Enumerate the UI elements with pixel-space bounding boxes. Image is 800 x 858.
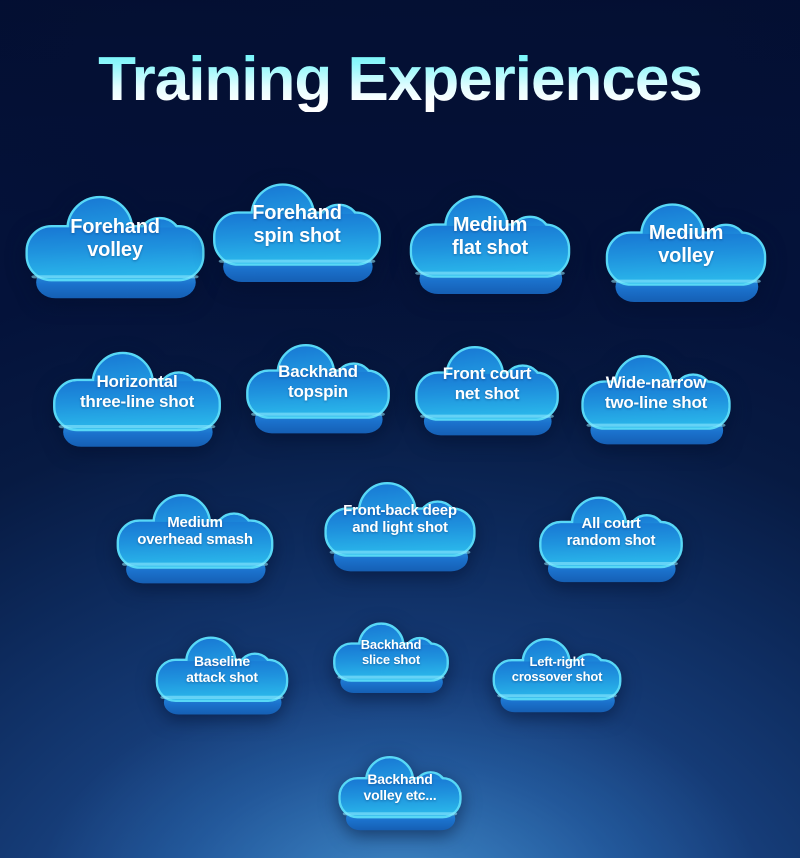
cloud-card[interactable]: Forehandvolley bbox=[20, 183, 210, 291]
cloud-card[interactable]: Backhandvolley etc... bbox=[335, 747, 465, 825]
cloud-card[interactable]: Front courtnet shot bbox=[411, 335, 563, 429]
cloud-card[interactable]: Mediumvolley bbox=[601, 191, 771, 295]
cloud-shape-icon bbox=[411, 335, 563, 429]
cloud-shape-icon bbox=[489, 629, 625, 707]
cloud-shape-icon bbox=[535, 486, 687, 576]
cloud-shape-icon bbox=[112, 483, 278, 577]
cloud-card[interactable]: Front-back deepand light shot bbox=[320, 471, 480, 565]
cloud-card[interactable]: Baselineattack shot bbox=[152, 627, 292, 709]
cloud-shape-icon bbox=[330, 614, 452, 688]
cloud-shape-icon bbox=[601, 191, 771, 295]
cloud-shape-icon bbox=[242, 333, 394, 427]
cloud-card[interactable]: Backhandslice shot bbox=[330, 614, 452, 688]
cloud-card[interactable]: Mediumflat shot bbox=[405, 183, 575, 287]
cloud-card[interactable]: Wide-narrowtwo-line shot bbox=[577, 344, 735, 438]
cloud-shape-icon bbox=[320, 471, 480, 565]
cloud-card[interactable]: Forehandspin shot bbox=[208, 171, 386, 275]
cloud-shape-icon bbox=[335, 747, 465, 825]
cloud-card[interactable]: All courtrandom shot bbox=[535, 486, 687, 576]
cloud-card[interactable]: Left-rightcrossover shot bbox=[489, 629, 625, 707]
cloud-shape-icon bbox=[208, 171, 386, 275]
cloud-shape-icon bbox=[152, 627, 292, 709]
cloud-shape-icon bbox=[20, 183, 210, 291]
cloud-shape-icon bbox=[577, 344, 735, 438]
cloud-card[interactable]: Backhandtopspin bbox=[242, 333, 394, 427]
cloud-card[interactable]: Horizontalthree-line shot bbox=[48, 340, 226, 440]
page-title: Training Experiences bbox=[0, 47, 800, 112]
infographic-canvas: Training Experiences ForehandvolleyForeh… bbox=[0, 0, 800, 858]
cloud-shape-icon bbox=[405, 183, 575, 287]
cloud-shape-icon bbox=[48, 340, 226, 440]
cloud-card[interactable]: Mediumoverhead smash bbox=[112, 483, 278, 577]
